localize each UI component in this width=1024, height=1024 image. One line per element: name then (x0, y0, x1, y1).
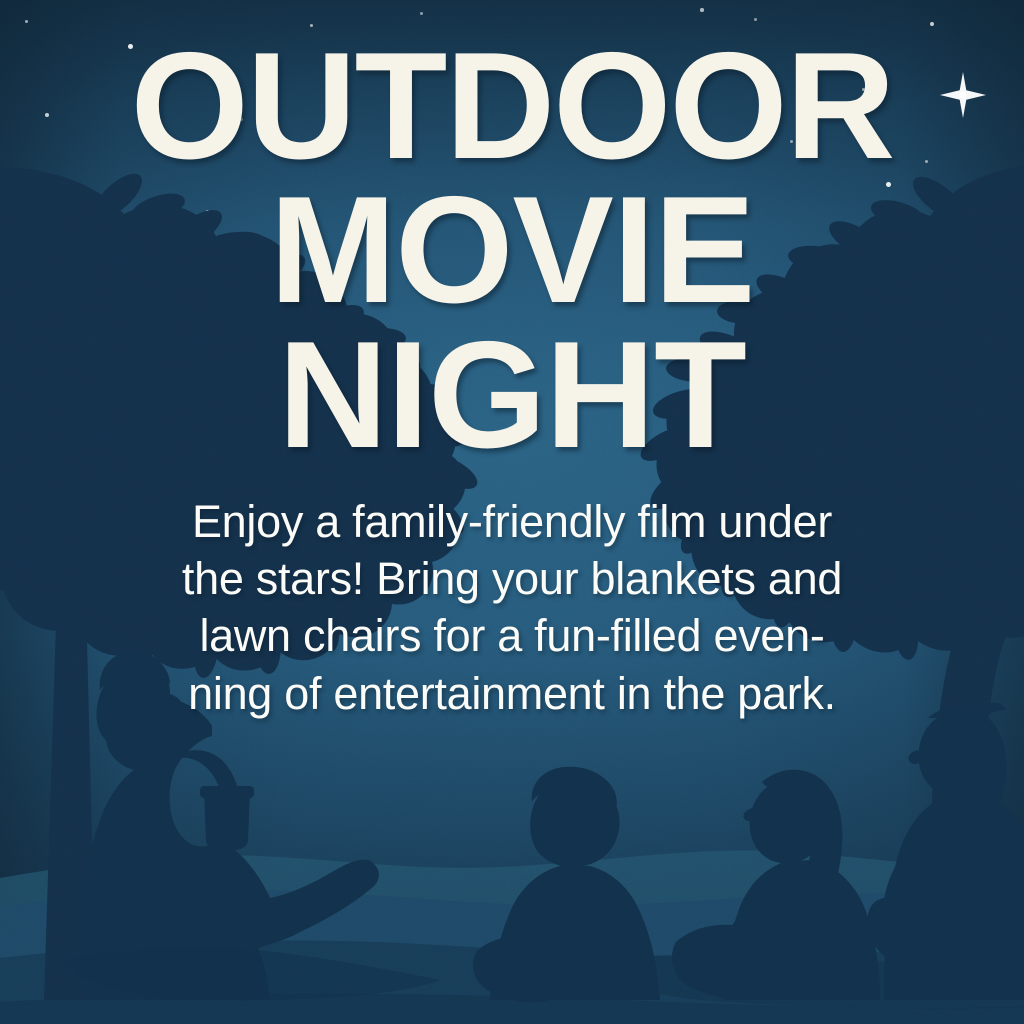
blanket-shadow-right (600, 953, 1024, 1009)
description-line-3: lawn chairs for a fun-filled even- (132, 607, 892, 664)
title-line-3: NIGHT (0, 323, 1024, 467)
poster-canvas: OUTDOOR MOVIE NIGHT Enjoy a family-frien… (0, 0, 1024, 1024)
description-line-2: the stars! Bring your blankets and (132, 550, 892, 607)
description-text: Enjoy a family-friendly film under the s… (132, 493, 892, 722)
blanket-shadow-left (60, 948, 440, 1001)
page-title: OUTDOOR MOVIE NIGHT (0, 34, 1024, 467)
description-line-1: Enjoy a family-friendly film under (132, 493, 892, 550)
title-line-1: OUTDOOR (0, 34, 1024, 178)
headline-block: OUTDOOR MOVIE NIGHT Enjoy a family-frien… (0, 34, 1024, 722)
description-line-4: ning of entertainment in the park. (132, 665, 892, 722)
title-line-2: MOVIE (0, 178, 1024, 322)
